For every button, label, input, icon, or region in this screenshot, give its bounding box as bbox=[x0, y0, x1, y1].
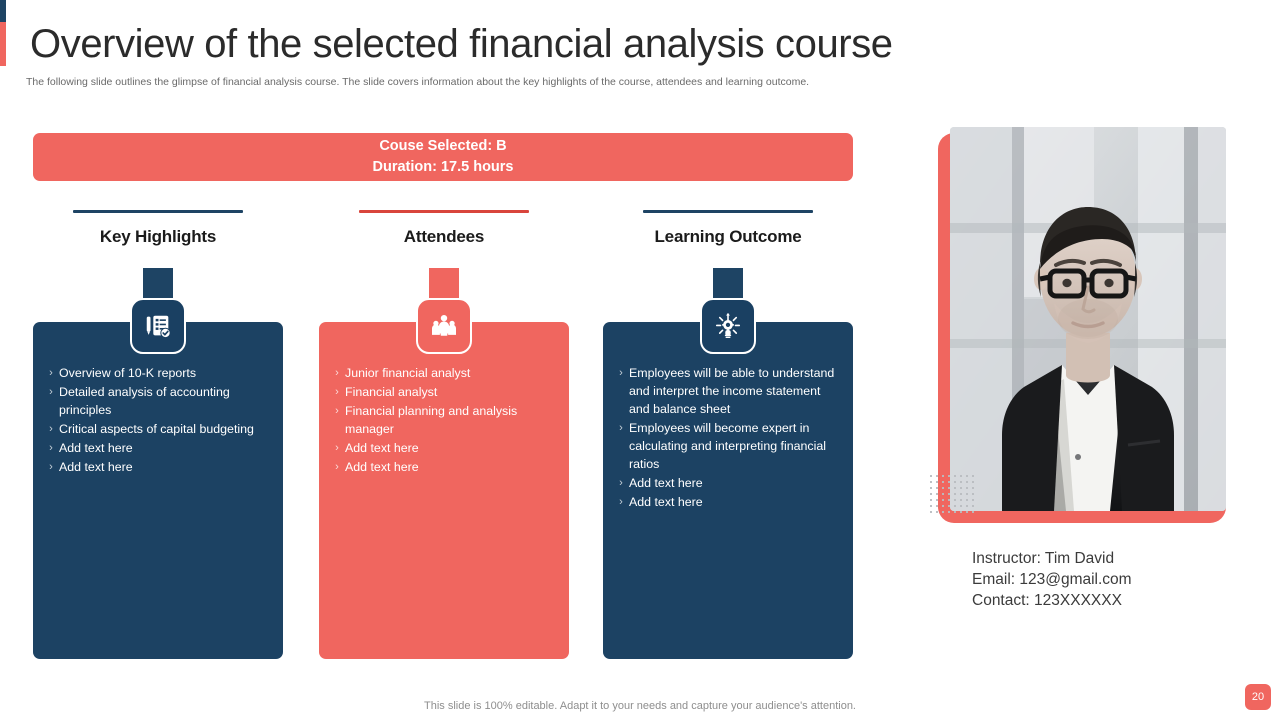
list-item-label: Detailed analysis of accounting principl… bbox=[59, 383, 269, 419]
list-item: › Employees will become expert in calcul… bbox=[613, 419, 839, 473]
column-heading-attendees: Attendees bbox=[319, 227, 569, 247]
list-item-label: Overview of 10-K reports bbox=[59, 364, 269, 382]
bullet-list-learning-outcome: › Employees will be able to understand a… bbox=[613, 364, 839, 511]
lightbulb-gear-idea-icon bbox=[700, 298, 756, 354]
column-rule bbox=[359, 210, 529, 213]
bullet-marker-icon: › bbox=[43, 364, 59, 382]
bullet-marker-icon: › bbox=[329, 439, 345, 457]
bullet-marker-icon: › bbox=[329, 383, 345, 401]
column-rule bbox=[643, 210, 813, 213]
bullet-marker-icon: › bbox=[43, 458, 59, 476]
bullet-marker-icon: › bbox=[613, 419, 629, 437]
column-heading-learning-outcome: Learning Outcome bbox=[603, 227, 853, 247]
column-heading-key-highlights: Key Highlights bbox=[33, 227, 283, 247]
people-group-icon bbox=[416, 298, 472, 354]
list-item-label: Critical aspects of capital budgeting bbox=[59, 420, 269, 438]
checklist-clipboard-icon bbox=[130, 298, 186, 354]
course-selected-label: Couse Selected: B bbox=[379, 137, 506, 156]
list-item: › Critical aspects of capital budgeting bbox=[43, 420, 269, 438]
left-edge-navy-accent bbox=[0, 0, 6, 22]
left-edge-coral-accent bbox=[0, 22, 6, 66]
bullet-list-attendees: › Junior financial analyst › Financial a… bbox=[329, 364, 555, 476]
panel-key-highlights: › Overview of 10-K reports › Detailed an… bbox=[33, 322, 283, 659]
page-number-badge: 20 bbox=[1245, 684, 1271, 710]
list-item-label: Add text here bbox=[59, 458, 269, 476]
list-item: › Detailed analysis of accounting princi… bbox=[43, 383, 269, 419]
course-banner: Couse Selected: B Duration: 17.5 hours bbox=[33, 133, 853, 181]
list-item-label: Financial analyst bbox=[345, 383, 555, 401]
instructor-details: Instructor: Tim David Email: 123@gmail.c… bbox=[972, 548, 1252, 611]
bullet-marker-icon: › bbox=[613, 493, 629, 511]
list-item-label: Add text here bbox=[345, 439, 555, 457]
list-item-label: Add text here bbox=[59, 439, 269, 457]
list-item-label: Employees will become expert in calculat… bbox=[629, 419, 839, 473]
list-item: › Add text here bbox=[329, 458, 555, 476]
list-item-label: Add text here bbox=[629, 493, 839, 511]
column-attendees: Attendees › Junior financial analyst › F… bbox=[319, 210, 569, 247]
bullet-marker-icon: › bbox=[329, 364, 345, 382]
list-item: › Junior financial analyst bbox=[329, 364, 555, 382]
bullet-marker-icon: › bbox=[613, 364, 629, 382]
bullet-marker-icon: › bbox=[43, 439, 59, 457]
instructor-photo-block bbox=[938, 133, 1226, 523]
bullet-marker-icon: › bbox=[329, 402, 345, 420]
decorative-dot-grid bbox=[928, 473, 974, 513]
bullet-marker-icon: › bbox=[43, 420, 59, 438]
course-duration-label: Duration: 17.5 hours bbox=[373, 158, 514, 177]
list-item: › Financial analyst bbox=[329, 383, 555, 401]
list-item: › Add text here bbox=[613, 493, 839, 511]
list-item-label: Employees will be able to understand and… bbox=[629, 364, 839, 418]
avatar bbox=[950, 127, 1226, 511]
slide-canvas: Overview of the selected financial analy… bbox=[0, 0, 1280, 720]
list-item: › Financial planning and analysis manage… bbox=[329, 402, 555, 438]
column-key-highlights: Key Highlights › Overview of 10-K report… bbox=[33, 210, 283, 247]
footer-note: This slide is 100% editable. Adapt it to… bbox=[0, 700, 1280, 712]
panel-learning-outcome: › Employees will be able to understand a… bbox=[603, 322, 853, 659]
column-learning-outcome: Learning Outcome › Employees will be abl… bbox=[603, 210, 853, 247]
bullet-marker-icon: › bbox=[329, 458, 345, 476]
bullet-list-key-highlights: › Overview of 10-K reports › Detailed an… bbox=[43, 364, 269, 476]
panel-attendees: › Junior financial analyst › Financial a… bbox=[319, 322, 569, 659]
list-item-label: Junior financial analyst bbox=[345, 364, 555, 382]
page-subtitle: The following slide outlines the glimpse… bbox=[26, 76, 809, 88]
list-item-label: Financial planning and analysis manager bbox=[345, 402, 555, 438]
list-item-label: Add text here bbox=[345, 458, 555, 476]
bullet-marker-icon: › bbox=[613, 474, 629, 492]
instructor-contact: Contact: 123XXXXXX bbox=[972, 590, 1252, 611]
page-title: Overview of the selected financial analy… bbox=[30, 22, 893, 67]
list-item: › Add text here bbox=[329, 439, 555, 457]
list-item: › Add text here bbox=[43, 458, 269, 476]
bullet-marker-icon: › bbox=[43, 383, 59, 401]
list-item: › Add text here bbox=[43, 439, 269, 457]
instructor-email: Email: 123@gmail.com bbox=[972, 569, 1252, 590]
column-rule bbox=[73, 210, 243, 213]
list-item-label: Add text here bbox=[629, 474, 839, 492]
list-item: › Employees will be able to understand a… bbox=[613, 364, 839, 418]
instructor-name: Instructor: Tim David bbox=[972, 548, 1252, 569]
list-item: › Overview of 10-K reports bbox=[43, 364, 269, 382]
list-item: › Add text here bbox=[613, 474, 839, 492]
